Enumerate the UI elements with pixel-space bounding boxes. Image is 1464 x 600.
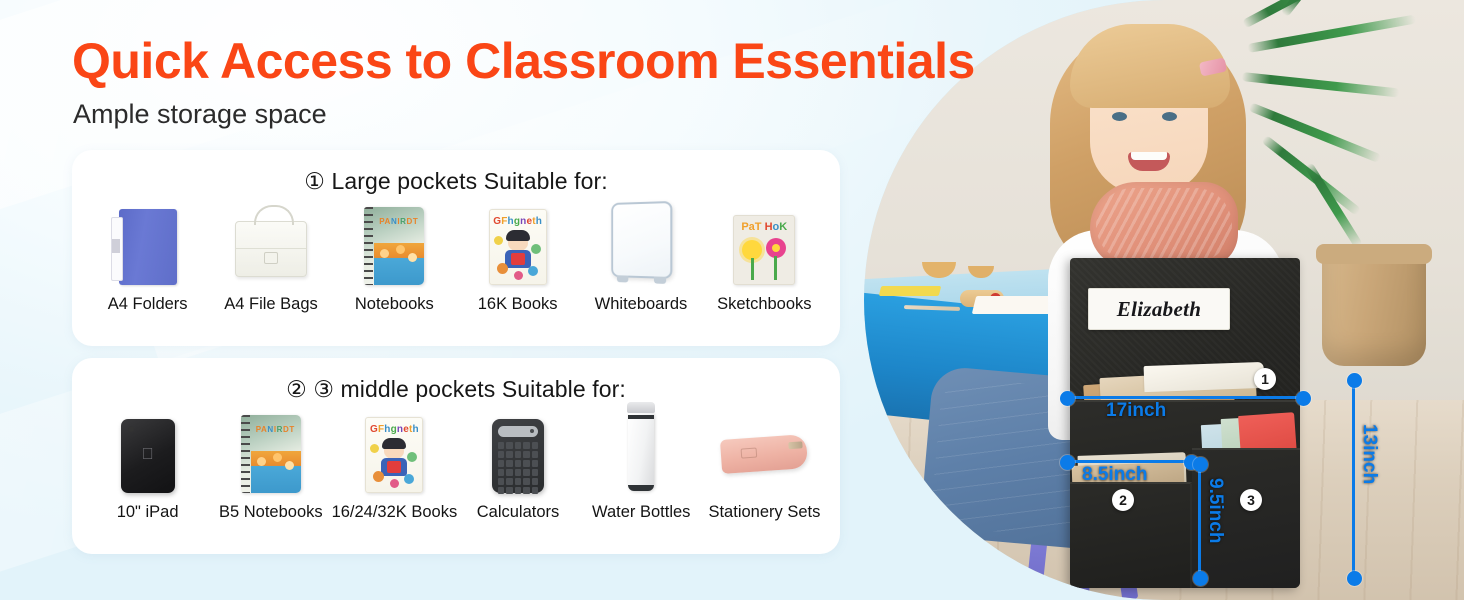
card-title-middle-pockets: ② ③ middle pockets Suitable for: <box>72 358 840 403</box>
item-sketchbooks: PaT HoK Sketchbooks <box>703 201 826 314</box>
item-label: 16K Books <box>478 295 558 314</box>
item-label: 10" iPad <box>117 503 179 522</box>
product-lifestyle-photo: Elizabeth <box>864 0 1464 600</box>
dimension-label-13inch: 13inch <box>1358 424 1380 484</box>
item-water-bottles: Water Bottles <box>580 409 703 522</box>
infographic-canvas: Elizabeth <box>0 0 1464 600</box>
file-bag-icon <box>216 201 326 285</box>
item-a4-folders: A4 Folders <box>86 201 209 314</box>
item-row-middle-pockets:  10" iPad PANIRDT <box>72 403 840 522</box>
pocket-badge-2: 2 <box>1112 489 1134 511</box>
spiral-notebook-icon: PANIRDT <box>216 409 326 493</box>
child-smile <box>1128 152 1170 171</box>
child-scarf <box>1090 182 1238 268</box>
page-subtitle: Ample storage space <box>73 99 327 130</box>
whiteboard-icon <box>586 201 696 285</box>
item-label: A4 File Bags <box>224 295 318 314</box>
kids-book-icon: GFhgneth <box>339 409 449 493</box>
chair-pocket-organizer: Elizabeth <box>1070 258 1300 588</box>
dimension-label-8-5inch: 8.5inch <box>1082 464 1147 486</box>
item-label: Stationery Sets <box>708 503 820 522</box>
item-calculators: Calculators <box>456 409 579 522</box>
item-row-large-pockets: A4 Folders A4 File Bags PANIRDT <box>72 195 840 314</box>
item-stationery-sets: Stationery Sets <box>703 409 826 522</box>
spiral-notebook-icon: PANIRDT <box>339 201 449 285</box>
a4-folder-icon <box>93 201 203 285</box>
plant-pot <box>1322 248 1426 366</box>
item-label: Notebooks <box>355 295 434 314</box>
item-label: A4 Folders <box>108 295 188 314</box>
name-tag-text: Elizabeth <box>1117 297 1201 322</box>
page-title: Quick Access to Classroom Essentials <box>72 32 975 90</box>
item-label: Water Bottles <box>592 503 690 522</box>
water-bottle-icon <box>586 409 696 493</box>
item-label: Calculators <box>477 503 560 522</box>
item-label: B5 Notebooks <box>219 503 323 522</box>
item-a4-file-bags: A4 File Bags <box>209 201 332 314</box>
item-whiteboards: Whiteboards <box>579 201 702 314</box>
name-tag: Elizabeth <box>1088 288 1230 330</box>
kids-book-icon: GFhgneth <box>463 201 573 285</box>
item-notebooks: PANIRDT Notebooks <box>333 201 456 314</box>
tablet-icon:  <box>93 409 203 493</box>
item-16-24-32k-books: GFhgneth 16/24/32K Books <box>332 409 456 522</box>
card-large-pockets: ① Large pockets Suitable for: A4 Folders… <box>72 150 840 346</box>
item-16k-books: GFhgneth 16K Books <box>456 201 579 314</box>
item-10-inch-ipad:  10" iPad <box>86 409 209 522</box>
calculator-icon <box>463 409 573 493</box>
pocket-badge-3: 3 <box>1240 489 1262 511</box>
item-label: Sketchbooks <box>717 295 811 314</box>
card-title-large-pockets: ① Large pockets Suitable for: <box>72 150 840 195</box>
card-middle-pockets: ② ③ middle pockets Suitable for:  10" i… <box>72 358 840 554</box>
item-label: 16/24/32K Books <box>332 503 458 522</box>
pocket-badge-1: 1 <box>1254 368 1276 390</box>
dimension-label-9-5inch: 9.5inch <box>1204 478 1226 543</box>
sketchbook-icon: PaT HoK <box>709 201 819 285</box>
item-b5-notebooks: PANIRDT B5 Notebooks <box>209 409 332 522</box>
dimension-label-17inch: 17inch <box>1106 400 1166 422</box>
item-label: Whiteboards <box>595 295 688 314</box>
pencil-case-icon <box>709 409 819 493</box>
